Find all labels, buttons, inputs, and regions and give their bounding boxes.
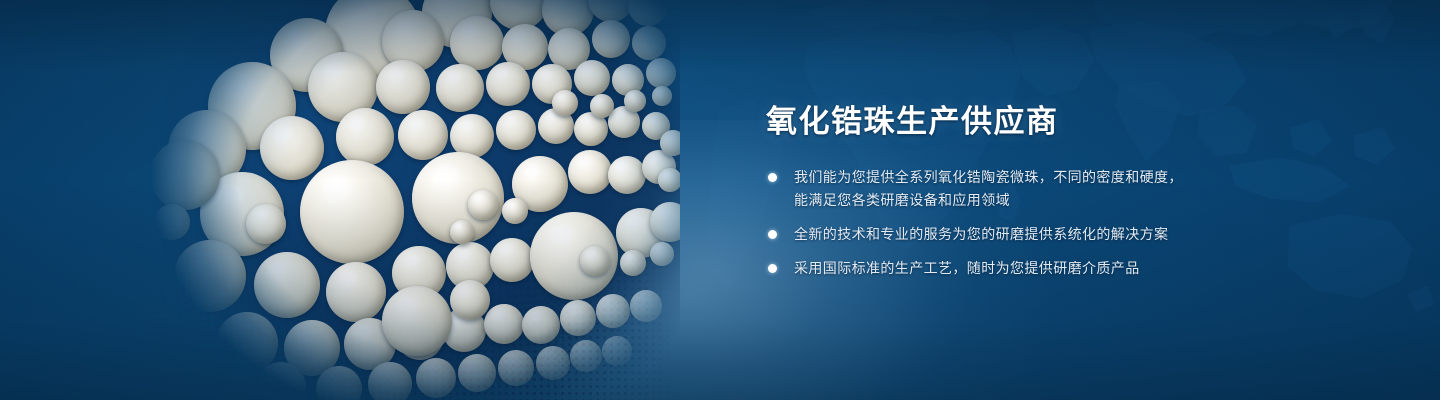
- bullet-dot-icon: [768, 173, 777, 182]
- bullet-dot-icon: [768, 230, 777, 239]
- feature-bullet: 我们能为您提供全系列氧化锆陶瓷微珠，不同的密度和硬度，能满足您各类研磨设备和应用…: [764, 166, 1284, 212]
- feature-bullet-line: 采用国际标准的生产工艺，随时为您提供研磨介质产品: [794, 257, 1284, 280]
- feature-bullet: 采用国际标准的生产工艺，随时为您提供研磨介质产品: [764, 257, 1284, 280]
- feature-bullet-list: 我们能为您提供全系列氧化锆陶瓷微珠，不同的密度和硬度，能满足您各类研磨设备和应用…: [764, 166, 1284, 280]
- hero-copy: 氧化锆珠生产供应商 我们能为您提供全系列氧化锆陶瓷微珠，不同的密度和硬度，能满足…: [764, 104, 1284, 280]
- hero-banner: 氧化锆珠生产供应商 我们能为您提供全系列氧化锆陶瓷微珠，不同的密度和硬度，能满足…: [0, 0, 1440, 400]
- feature-bullet-line: 能满足您各类研磨设备和应用领域: [794, 189, 1284, 212]
- bullet-dot-icon: [768, 264, 777, 273]
- feature-bullet-line: 全新的技术和专业的服务为您的研磨提供系统化的解决方案: [794, 223, 1284, 246]
- page-title: 氧化锆珠生产供应商: [766, 104, 1284, 140]
- feature-bullet-line: 我们能为您提供全系列氧化锆陶瓷微珠，不同的密度和硬度，: [794, 166, 1284, 189]
- feature-bullet: 全新的技术和专业的服务为您的研磨提供系统化的解决方案: [764, 223, 1284, 246]
